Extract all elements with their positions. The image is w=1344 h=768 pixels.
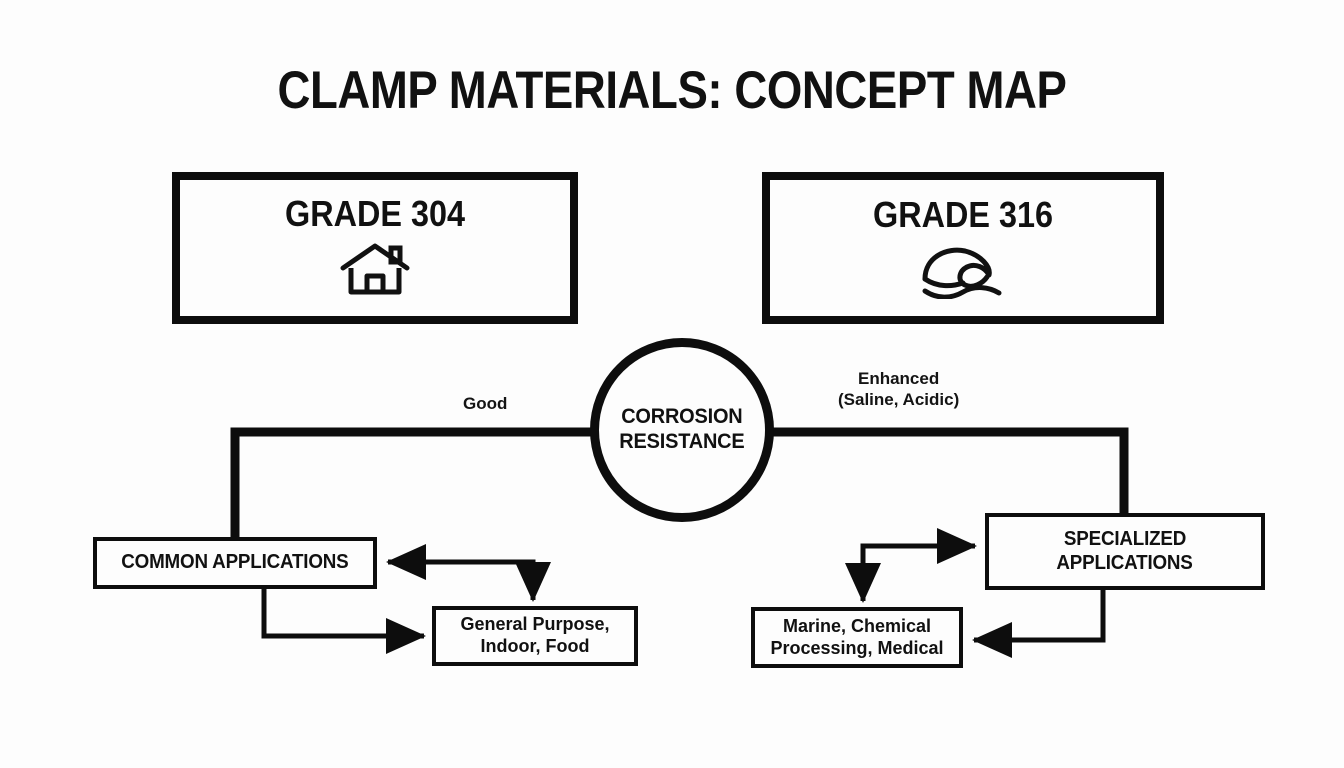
concept-map-canvas: CLAMP MATERIALS: CONCEPT MAP GRADE 304 G… [0, 0, 1344, 768]
corrosion-line-2: RESISTANCE [619, 430, 744, 455]
common-applications-label: COMMON APPLICATIONS [121, 551, 348, 574]
specialized-applications-line-2: APPLICATIONS [1057, 552, 1193, 575]
marine-chemical-line-1: Marine, Chemical [783, 616, 931, 638]
edge-label-enhanced-line-1: Enhanced [838, 368, 959, 389]
common-applications-node[interactable]: COMMON APPLICATIONS [93, 537, 377, 589]
general-purpose-node[interactable]: General Purpose, Indoor, Food [432, 606, 638, 666]
marine-chemical-line-2: Processing, Medical [770, 638, 943, 660]
arrow-marine-to-specialized [863, 546, 975, 599]
general-purpose-line-1: General Purpose, [460, 614, 609, 636]
page-title: CLAMP MATERIALS: CONCEPT MAP [94, 64, 1250, 117]
grade-304-box[interactable]: GRADE 304 [172, 172, 578, 324]
house-icon [337, 240, 413, 300]
specialized-applications-line-1: SPECIALIZED [1064, 528, 1186, 551]
edge-label-enhanced-line-2: (Saline, Acidic) [838, 389, 959, 410]
arrow-general-to-common [388, 562, 533, 598]
arrow-common-to-general [264, 589, 424, 636]
marine-chemical-node[interactable]: Marine, Chemical Processing, Medical [751, 607, 963, 668]
corrosion-resistance-node[interactable]: CORROSION RESISTANCE [590, 338, 774, 522]
connector-corrosion-to-specialized [772, 432, 1124, 516]
edge-label-enhanced: Enhanced (Saline, Acidic) [838, 368, 959, 411]
grade-304-label: GRADE 304 [285, 196, 465, 232]
connector-corrosion-to-common [235, 432, 592, 540]
grade-316-label: GRADE 316 [873, 197, 1053, 233]
corrosion-line-1: CORROSION [621, 405, 742, 430]
edge-label-good: Good [463, 393, 507, 414]
specialized-applications-node[interactable]: SPECIALIZED APPLICATIONS [985, 513, 1265, 590]
general-purpose-line-2: Indoor, Food [481, 636, 590, 658]
wave-icon [917, 241, 1009, 299]
arrow-specialized-to-marine [974, 590, 1103, 640]
grade-316-box[interactable]: GRADE 316 [762, 172, 1164, 324]
